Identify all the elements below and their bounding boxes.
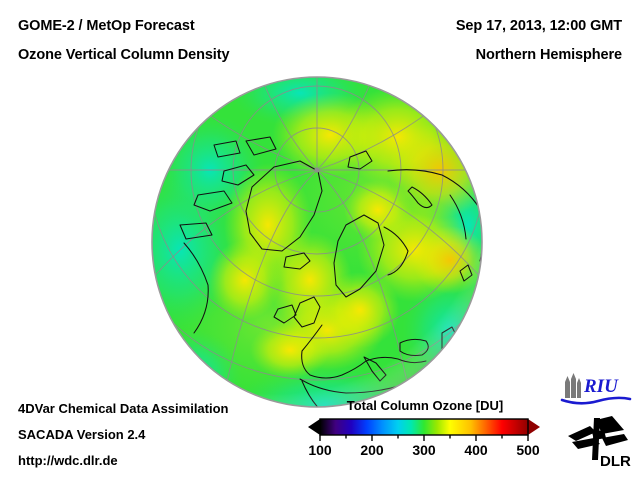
colorbar-tick-label: 100 (308, 442, 331, 458)
ozone-globe-map (150, 75, 486, 411)
region-label: Northern Hemisphere (476, 47, 622, 63)
riu-tower-icon (565, 373, 581, 398)
colorbar-gradient (320, 419, 528, 435)
dlr-logo: DLR (566, 414, 632, 472)
riu-wordmark: RIU (583, 376, 619, 397)
forecast-timestamp: Sep 17, 2013, 12:00 GMT (456, 18, 622, 34)
page-subtitle: Ozone Vertical Column Density (18, 47, 229, 63)
footer-url[interactable]: http://wdc.dlr.de (18, 453, 118, 468)
colorbar-tick-label: 300 (412, 442, 435, 458)
riu-wave-icon (562, 398, 630, 403)
footer-method: 4DVar Chemical Data Assimilation (18, 401, 229, 416)
colorbar-tick-label: 400 (464, 442, 487, 458)
riu-logo: RIU (560, 372, 632, 406)
footer-version: SACADA Version 2.4 (18, 427, 145, 442)
colorbar-cap-low (308, 419, 320, 435)
colorbar: Total Column Ozone [DU] 100200300400500 (300, 398, 550, 476)
colorbar-title: Total Column Ozone [DU] (300, 398, 550, 413)
page-title: GOME-2 / MetOp Forecast (18, 18, 195, 34)
colorbar-tick-label: 200 (360, 442, 383, 458)
colorbar-cap-high (528, 419, 540, 435)
colorbar-ticks (320, 435, 528, 441)
colorbar-tick-label: 500 (516, 442, 539, 458)
dlr-wordmark: DLR (600, 453, 631, 470)
